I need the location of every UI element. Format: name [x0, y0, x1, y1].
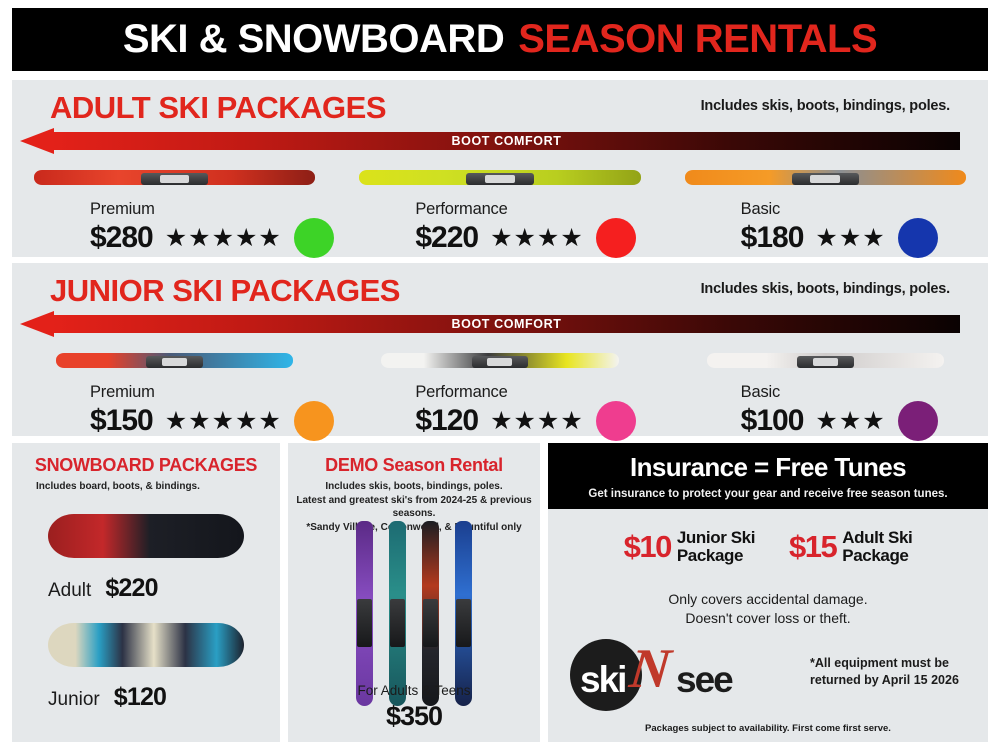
package-price: $180	[741, 221, 804, 255]
junior-section-title: JUNIOR SKI PACKAGES	[50, 273, 400, 309]
comfort-gradient-bar: BOOT COMFORT	[53, 132, 960, 150]
snowboard-label: Junior	[48, 689, 100, 711]
comfort-rating-stars: ★★★★	[490, 409, 584, 434]
flyer-page: SKI & SNOWBOARD SEASON RENTALS ADULT SKI…	[0, 0, 1000, 750]
demo-footer: For Adults & Teens $350	[288, 683, 540, 732]
ski-image-adult-premium	[12, 158, 337, 198]
insurance-label-line1: Adult Ski	[842, 528, 912, 547]
banner-title-accent: SEASON RENTALS	[518, 17, 877, 62]
adult-package-columns: Premium $280 ★★★★★ Performance $220 ★★★★	[12, 158, 988, 258]
color-dot	[898, 218, 938, 258]
package-price: $150	[90, 404, 153, 438]
demo-audience-label: For Adults & Teens	[288, 683, 540, 698]
insurance-amount: $15	[789, 529, 836, 565]
package-price: $120	[415, 404, 478, 438]
insurance-tier-adult[interactable]: $15 Adult Ski Package	[789, 529, 912, 565]
insurance-tier-junior[interactable]: $10 Junior Ski Package	[624, 529, 755, 565]
snowboard-image-adult	[12, 506, 280, 568]
demo-season-rental-section: DEMO Season Rental Includes skis, boots,…	[288, 443, 540, 742]
logo-text-see: see	[676, 659, 732, 701]
insurance-label-line1: Junior Ski	[677, 528, 755, 547]
demo-section-title: DEMO Season Rental	[288, 455, 540, 476]
insurance-title: Insurance = Free Tunes	[630, 452, 906, 483]
insurance-tiers: $10 Junior Ski Package $15 Adult Ski Pac…	[548, 529, 988, 565]
package-name: Basic	[741, 198, 988, 219]
comfort-rating-stars: ★★★	[815, 409, 885, 434]
package-price: $220	[415, 221, 478, 255]
adult-boot-comfort-arrow: BOOT COMFORT	[20, 128, 960, 154]
snowboard-item-adult[interactable]: Adult $220	[12, 506, 280, 603]
insurance-label-line2: Package	[677, 546, 743, 565]
arrow-head-icon	[20, 128, 54, 154]
ski-n-see-logo: ski N see	[564, 633, 814, 715]
package-price: $280	[90, 221, 153, 255]
package-name: Performance	[415, 198, 662, 219]
package-name: Premium	[90, 381, 337, 402]
comfort-rating-stars: ★★★	[815, 226, 885, 251]
adult-section-title: ADULT SKI PACKAGES	[50, 90, 386, 126]
comfort-rating-stars: ★★★★	[490, 226, 584, 251]
demo-ski	[389, 521, 406, 706]
package-name: Premium	[90, 198, 337, 219]
demo-note-line2: Latest and greatest ski's from 2024-25 &…	[288, 494, 540, 521]
color-dot	[294, 218, 334, 258]
comfort-bar-label: BOOT COMFORT	[452, 134, 562, 148]
demo-note-line1: Includes skis, boots, bindings, poles.	[288, 480, 540, 494]
package-card-junior-premium[interactable]: Premium $150 ★★★★★	[12, 341, 337, 441]
package-name: Performance	[415, 381, 662, 402]
insurance-coverage-note: Only covers accidental damage. Doesn't c…	[548, 590, 988, 628]
package-card-junior-basic[interactable]: Basic $100 ★★★	[663, 341, 988, 441]
ski-image-junior-premium	[12, 341, 337, 381]
insurance-label-line2: Package	[842, 546, 908, 565]
return-note-line2: returned by April 15 2026	[810, 672, 970, 689]
junior-boot-comfort-arrow: BOOT COMFORT	[20, 311, 960, 337]
junior-includes-note: Includes skis, boots, bindings, poles.	[701, 281, 950, 297]
insurance-amount: $10	[624, 529, 671, 565]
package-name: Basic	[741, 381, 988, 402]
adult-includes-note: Includes skis, boots, bindings, poles.	[701, 98, 950, 114]
snowboard-packages-section: SNOWBOARD PACKAGES Includes board, boots…	[12, 443, 280, 742]
comfort-bar-label: BOOT COMFORT	[452, 317, 562, 331]
coverage-note-line1: Only covers accidental damage.	[548, 590, 988, 609]
package-card-adult-premium[interactable]: Premium $280 ★★★★★	[12, 158, 337, 258]
logo-text-n: N	[627, 637, 670, 701]
equipment-return-note: *All equipment must be returned by April…	[810, 655, 970, 689]
header-banner: SKI & SNOWBOARD SEASON RENTALS	[12, 8, 988, 71]
color-dot	[596, 401, 636, 441]
package-card-adult-basic[interactable]: Basic $180 ★★★	[663, 158, 988, 258]
demo-ski	[356, 521, 373, 706]
snowboard-item-junior[interactable]: Junior $120	[12, 615, 280, 712]
package-card-adult-performance[interactable]: Performance $220 ★★★★	[337, 158, 662, 258]
snowboard-image-junior	[12, 615, 280, 677]
ski-image-adult-performance	[337, 158, 662, 198]
insurance-subtitle: Get insurance to protect your gear and r…	[588, 488, 947, 500]
arrow-head-icon	[20, 311, 54, 337]
junior-ski-packages-section: JUNIOR SKI PACKAGES Includes skis, boots…	[12, 263, 988, 436]
demo-ski	[455, 521, 472, 706]
snowboard-price: $220	[105, 574, 157, 603]
ski-image-junior-basic	[663, 341, 988, 381]
demo-price: $350	[288, 701, 540, 732]
demo-skis-image	[288, 521, 540, 706]
demo-ski	[422, 521, 439, 706]
comfort-gradient-bar: BOOT COMFORT	[53, 315, 960, 333]
ski-image-adult-basic	[663, 158, 988, 198]
logo-text-ski: ski	[580, 659, 625, 701]
comfort-rating-stars: ★★★★★	[165, 409, 282, 434]
snowboard-includes-note: Includes board, boots, & bindings.	[36, 480, 280, 494]
insurance-header: Insurance = Free Tunes Get insurance to …	[548, 443, 988, 509]
color-dot	[898, 401, 938, 441]
color-dot	[596, 218, 636, 258]
snowboard-price: $120	[114, 683, 166, 712]
insurance-section: Insurance = Free Tunes Get insurance to …	[548, 443, 988, 742]
return-note-line1: *All equipment must be	[810, 655, 970, 672]
ski-image-junior-performance	[337, 341, 662, 381]
banner-title-primary: SKI & SNOWBOARD	[123, 17, 504, 62]
color-dot	[294, 401, 334, 441]
junior-package-columns: Premium $150 ★★★★★ Performance $120 ★★★★	[12, 341, 988, 441]
comfort-rating-stars: ★★★★★	[165, 226, 282, 251]
adult-ski-packages-section: ADULT SKI PACKAGES Includes skis, boots,…	[12, 80, 988, 257]
snowboard-label: Adult	[48, 580, 91, 602]
package-card-junior-performance[interactable]: Performance $120 ★★★★	[337, 341, 662, 441]
availability-footer: Packages subject to availability. First …	[548, 723, 988, 734]
package-price: $100	[741, 404, 804, 438]
coverage-note-line2: Doesn't cover loss or theft.	[548, 609, 988, 628]
snowboard-section-title: SNOWBOARD PACKAGES	[12, 455, 280, 476]
